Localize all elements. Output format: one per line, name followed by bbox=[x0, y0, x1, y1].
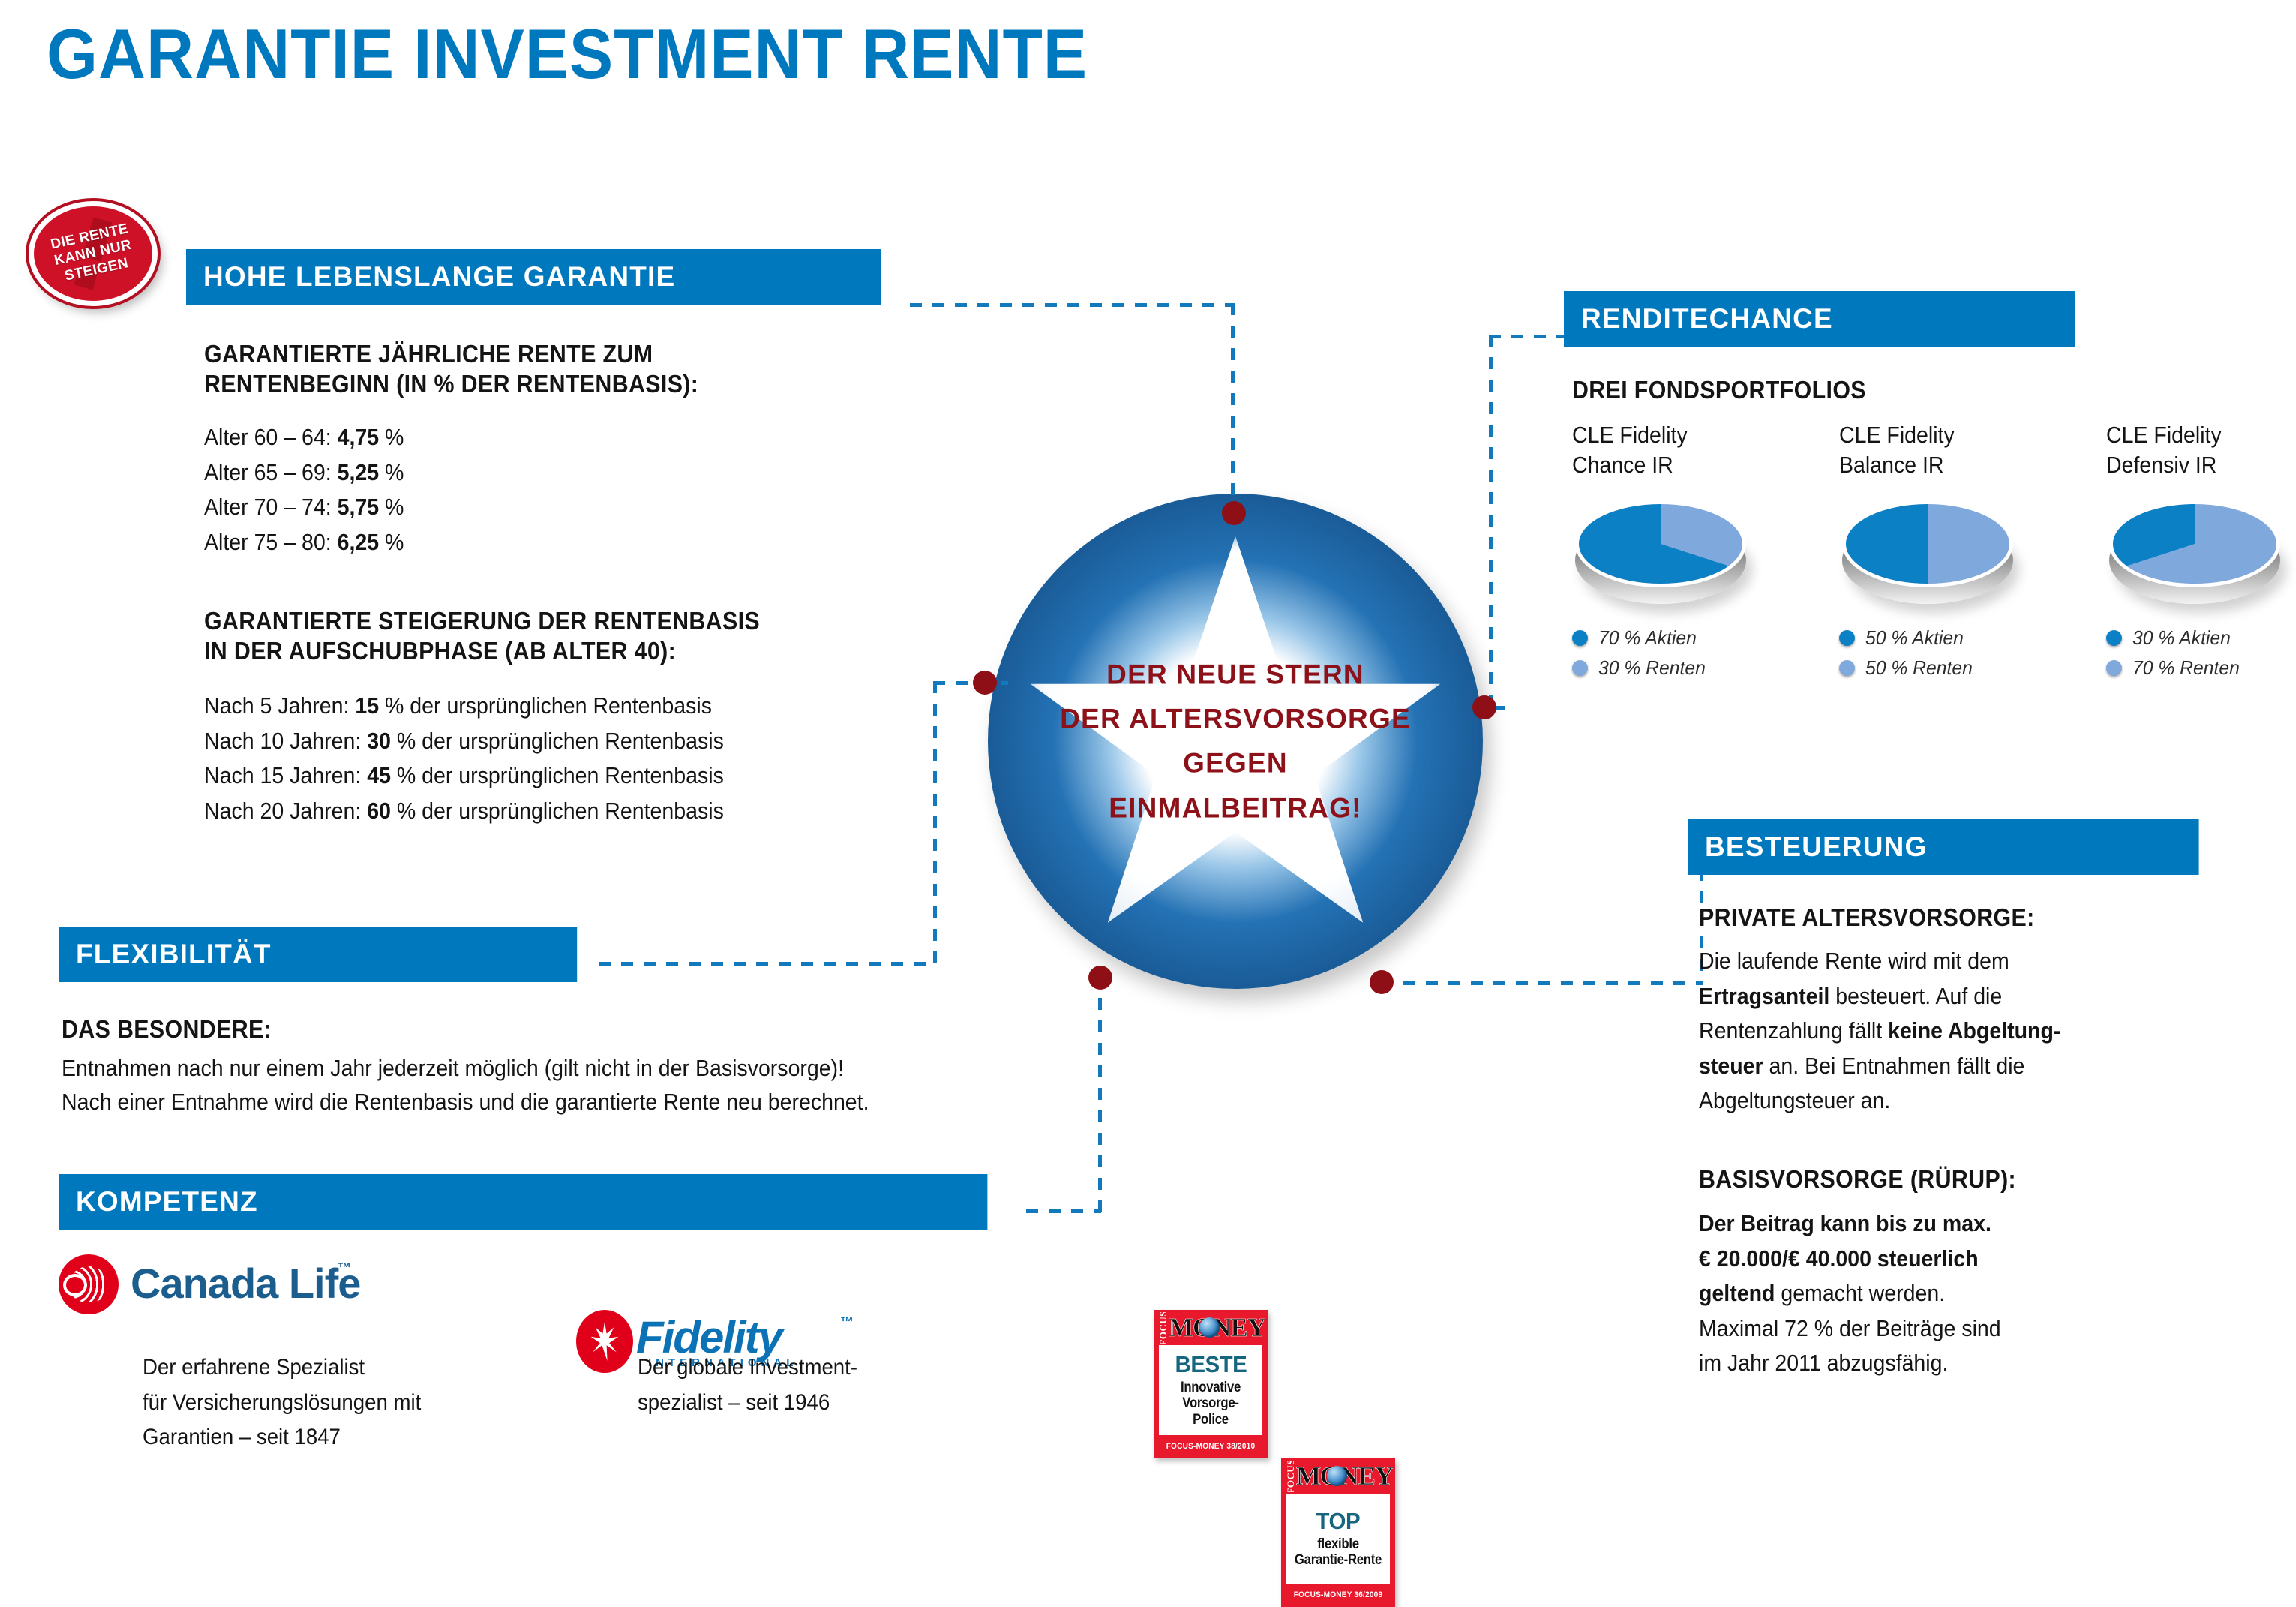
pie-chart-defensiv bbox=[2106, 497, 2283, 610]
text-line: Abgeltungsteuer an. bbox=[1699, 1083, 2223, 1119]
center-line-1: DER NEUE STERN bbox=[988, 653, 1483, 697]
award-footer: FOCUS-MONEY 38/2010 bbox=[1160, 1437, 1261, 1456]
besteuerung-private-title: PRIVATE ALTERSVORSORGE: bbox=[1699, 903, 2182, 933]
connector-line bbox=[910, 303, 1234, 307]
center-star-sphere: DER NEUE STERN DER ALTERSVORSORGE GEGEN … bbox=[988, 494, 1483, 989]
money-wordmark: MONEY bbox=[1169, 1314, 1265, 1342]
award-badge-top: FOCUS MONEY TOP flexible Garantie-Rente … bbox=[1281, 1458, 1395, 1607]
center-slogan: DER NEUE STERN DER ALTERSVORSORGE GEGEN … bbox=[988, 653, 1483, 831]
connector-line bbox=[1098, 975, 1102, 1212]
besteuerung-basis-body: Der Beitrag kann bis zu max. € 20.000/€ … bbox=[1699, 1206, 2269, 1381]
center-line-4: EINMALBEITRAG! bbox=[988, 785, 1483, 830]
pie-legend-balance: 50 % Aktien 50 % Renten bbox=[1839, 626, 2064, 680]
legend-swatch-aktien-icon bbox=[1839, 630, 1855, 646]
connector-node-left bbox=[973, 671, 997, 695]
pie-title-defensiv: CLE Fidelity Defensiv IR bbox=[2106, 420, 2296, 481]
besteuerung-basis-title: BASISVORSORGE (RÜRUP): bbox=[1699, 1164, 2182, 1194]
legend-item: 70 % Renten bbox=[2106, 656, 2296, 680]
garantie-row: Alter 75 – 80: 6,25 % bbox=[204, 525, 404, 560]
page-title: GARANTIE INVESTMENT RENTE bbox=[47, 14, 1088, 95]
text-line: Maximal 72 % der Beiträge sind bbox=[1699, 1311, 2223, 1347]
pie-top bbox=[1842, 500, 2013, 587]
garantie-row: Alter 65 – 69: 5,25 % bbox=[204, 455, 404, 491]
text-line: € 20.000/€ 40.000 steuerlich bbox=[1699, 1242, 2223, 1277]
pie-slices bbox=[1579, 504, 1742, 584]
pie-slices bbox=[2113, 504, 2276, 584]
renditechance-subtitle: DREI FONDSPORTFOLIOS bbox=[1572, 375, 1986, 405]
text-line: Der Beitrag kann bis zu max. bbox=[1699, 1206, 2223, 1242]
flexibilitaet-subtitle: DAS BESONDERE: bbox=[62, 1014, 545, 1044]
focus-money-masthead: FOCUS MONEY bbox=[1283, 1461, 1393, 1492]
garantie-row: Alter 60 – 64: 4,75 % bbox=[204, 420, 404, 455]
pie-top bbox=[1575, 500, 1746, 587]
award-footer: FOCUS-MONEY 36/2009 bbox=[1288, 1585, 1388, 1605]
besteuerung-private-body: Die laufende Rente wird mit dem Ertragsa… bbox=[1699, 944, 2269, 1119]
fidelity-caption: Der globale Investment- spezialist – sei… bbox=[638, 1350, 996, 1420]
legend-swatch-aktien-icon bbox=[1572, 630, 1588, 646]
globe-icon bbox=[1199, 1317, 1220, 1338]
steigerung-row: Nach 20 Jahren: 60 % der ursprünglichen … bbox=[204, 794, 724, 829]
award-kicker: BESTE bbox=[1175, 1353, 1247, 1376]
connector-line bbox=[1489, 335, 1493, 710]
pie-title-balance: CLE Fidelity Balance IR bbox=[1839, 420, 2046, 481]
connector-node-bottom-right bbox=[1370, 970, 1394, 994]
steigerung-row: Nach 10 Jahren: 30 % der ursprünglichen … bbox=[204, 724, 724, 759]
legend-swatch-aktien-icon bbox=[2106, 630, 2122, 646]
focus-money-masthead: FOCUS MONEY bbox=[1156, 1312, 1265, 1344]
connector-line bbox=[933, 681, 937, 965]
garantie-row: Alter 70 – 74: 5,75 % bbox=[204, 490, 404, 525]
garantie-subtitle-1: GARANTIERTE JÄHRLICHE RENTE ZUM RENTENBE… bbox=[204, 339, 728, 400]
legend-item: 30 % Aktien bbox=[2106, 626, 2296, 650]
award-description: Innovative Vorsorge-Police bbox=[1166, 1380, 1255, 1428]
award-body: TOP flexible Garantie-Rente bbox=[1286, 1494, 1390, 1584]
award-badge-beste: FOCUS MONEY BESTE Innovative Vorsorge-Po… bbox=[1154, 1310, 1268, 1458]
section-header-garantie: HOHE LEBENSLANGE GARANTIE bbox=[186, 249, 881, 305]
connector-line bbox=[933, 681, 1008, 685]
legend-item: 30 % Renten bbox=[1572, 656, 1797, 680]
pie-top bbox=[2109, 500, 2280, 587]
legend-item: 50 % Aktien bbox=[1839, 626, 2064, 650]
fund-portfolio-defensiv: CLE Fidelity Defensiv IR 30 % Aktien 70 … bbox=[2106, 420, 2296, 686]
center-line-3: GEGEN bbox=[988, 741, 1483, 785]
focus-wordmark: FOCUS bbox=[1286, 1461, 1295, 1492]
legend-swatch-renten-icon bbox=[1839, 660, 1855, 676]
garantie-rows-1: Alter 60 – 64: 4,75 % Alter 65 – 69: 5,2… bbox=[204, 420, 422, 560]
center-line-2: DER ALTERSVORSORGE bbox=[988, 697, 1483, 741]
steigerung-row: Nach 5 Jahren: 15 % der ursprünglichen R… bbox=[204, 689, 724, 724]
text-line: Die laufende Rente wird mit dem bbox=[1699, 944, 2223, 979]
flexibilitaet-body: Entnahmen nach nur einem Jahr jederzeit … bbox=[62, 1052, 876, 1119]
rente-steigt-badge: DIE RENTE KANN NUR STEIGEN bbox=[29, 201, 158, 306]
pie-slices bbox=[1846, 504, 2009, 584]
connector-line bbox=[599, 962, 936, 966]
pie-chart-chance bbox=[1572, 497, 1749, 610]
fidelity-star-icon bbox=[576, 1310, 633, 1373]
legend-swatch-renten-icon bbox=[2106, 660, 2122, 676]
canada-life-caption: Der erfahrene Spezialist für Versicherun… bbox=[143, 1350, 529, 1455]
canada-life-wordmark: Canada Life bbox=[131, 1259, 360, 1308]
connector-line bbox=[1026, 1209, 1101, 1213]
garantie-rows-2: Nach 5 Jahren: 15 % der ursprünglichen R… bbox=[204, 689, 769, 828]
legend-item: 70 % Aktien bbox=[1572, 626, 1797, 650]
legend-item: 50 % Renten bbox=[1839, 656, 2064, 680]
trademark-icon: ™ bbox=[840, 1314, 854, 1330]
trademark-icon: ™ bbox=[338, 1260, 351, 1276]
pie-legend-chance: 70 % Aktien 30 % Renten bbox=[1572, 626, 1797, 680]
section-header-renditechance: RENDITECHANCE bbox=[1564, 291, 2075, 347]
money-wordmark: MONEY bbox=[1296, 1462, 1393, 1491]
pie-title-chance: CLE Fidelity Chance IR bbox=[1572, 420, 1779, 481]
text-line: Rentenzahlung fällt keine Abgeltung- bbox=[1699, 1014, 2223, 1049]
connector-line bbox=[1381, 981, 1703, 985]
award-body: BESTE Innovative Vorsorge-Police bbox=[1159, 1345, 1262, 1435]
award-kicker: TOP bbox=[1316, 1509, 1361, 1533]
focus-wordmark: FOCUS bbox=[1158, 1312, 1168, 1344]
steigerung-row: Nach 15 Jahren: 45 % der ursprünglichen … bbox=[204, 758, 724, 794]
connector-node-bottom-left bbox=[1088, 966, 1112, 990]
connector-line bbox=[1231, 303, 1235, 513]
pie-legend-defensiv: 30 % Aktien 70 % Renten bbox=[2106, 626, 2296, 680]
fund-portfolio-balance: CLE Fidelity Balance IR 50 % Aktien 50 %… bbox=[1839, 420, 2064, 686]
pie-chart-balance bbox=[1839, 497, 2016, 610]
award-description: flexible Garantie-Rente bbox=[1295, 1536, 1382, 1569]
text-line: im Jahr 2011 abzugsfähig. bbox=[1699, 1346, 2223, 1381]
connector-line bbox=[1489, 335, 1564, 338]
section-header-kompetenz: KOMPETENZ bbox=[59, 1174, 987, 1230]
connector-node-top bbox=[1222, 501, 1246, 525]
canada-life-mark-icon bbox=[59, 1254, 119, 1314]
legend-swatch-renten-icon bbox=[1572, 660, 1588, 676]
connector-node-right bbox=[1472, 695, 1496, 719]
text-line: geltend gemacht werden. bbox=[1699, 1276, 2223, 1311]
globe-icon bbox=[1327, 1466, 1347, 1486]
garantie-subtitle-2: GARANTIERTE STEIGERUNG DER RENTENBASIS I… bbox=[204, 606, 770, 667]
section-header-flexibilitaet: FLEXIBILITÄT bbox=[59, 927, 577, 982]
fund-portfolio-chance: CLE Fidelity Chance IR 70 % Aktien 30 % … bbox=[1572, 420, 1797, 686]
canada-life-logo: Canada Life ™ bbox=[59, 1253, 389, 1316]
text-line: Ertragsanteil besteuert. Auf die bbox=[1699, 979, 2223, 1014]
section-header-besteuerung: BESTEUERUNG bbox=[1688, 819, 2199, 875]
text-line: steuer an. Bei Entnahmen fällt die bbox=[1699, 1049, 2223, 1084]
